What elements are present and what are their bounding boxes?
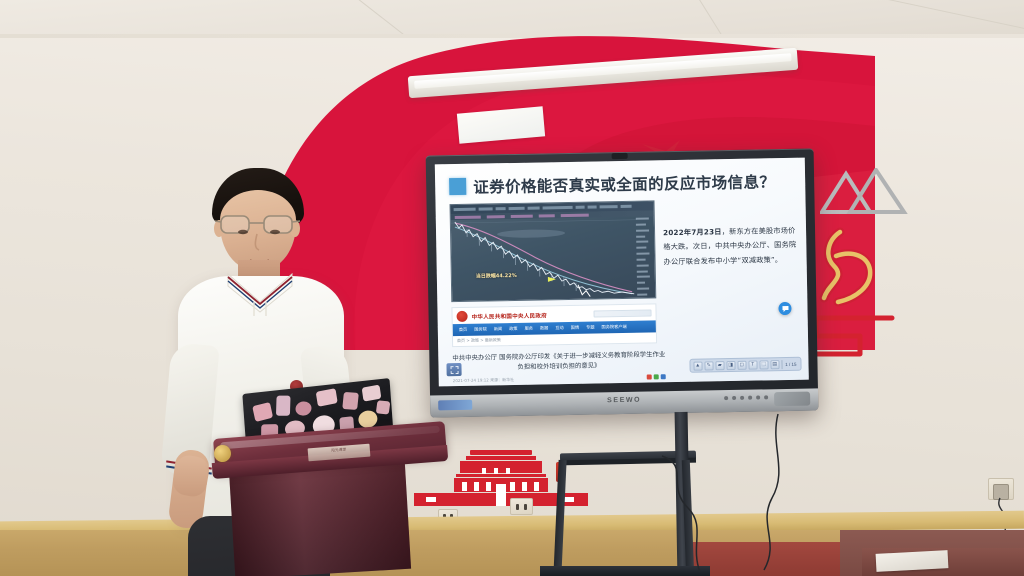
power-plug [993,484,1009,500]
tv-stand-base [540,566,710,576]
red-squiggle-decal [808,310,908,358]
presentation-slide[interactable]: 证券价格能否真实或全面的反应市场信息？ [435,158,809,387]
display-camera [612,153,628,159]
wall-ceiling-edge [0,34,1024,38]
gov-nav-item[interactable]: 国务院 [471,325,490,333]
interactive-smartboard[interactable]: 证券价格能否真实或全面的反应市场信息？ [426,148,819,417]
display-button[interactable] [740,396,744,400]
chat-bubble-icon[interactable] [778,302,791,315]
mountain-decal [820,168,910,214]
gov-nav-item[interactable]: 数据 [537,324,552,332]
share-wechat-icon[interactable] [654,375,659,380]
classroom-scene: LED [0,0,1024,576]
gov-nav-item[interactable]: 政策 [506,325,521,333]
highlighter-icon[interactable]: ▰ [715,361,724,370]
text-icon[interactable]: T [748,360,757,369]
gov-nav-item[interactable]: 新闻 [491,325,506,333]
page-icon[interactable]: ▤ [770,360,779,369]
sticker-12 [376,400,391,414]
lectern: 阳光课堂 [196,398,464,576]
gov-nav-item[interactable]: 互动 [552,324,567,332]
gov-site-title: 中华人民共和国中央人民政府 [472,311,548,320]
chinese-character-decal [812,222,884,314]
toolbar-divider [781,360,782,369]
display-button[interactable] [756,395,760,399]
gov-nav-item[interactable]: 国情 [568,324,583,332]
national-emblem-icon [456,311,467,322]
gov-nav-item[interactable]: 首页 [456,326,471,334]
display-control-buttons[interactable] [724,395,768,400]
sticker-4 [316,388,338,407]
lectern-body-shading [229,459,411,576]
gov-website-screenshot: 中华人民共和国中央人民政府 首页 国务院 新闻 政策 服务 数据 [451,303,657,347]
slide-right-column: 2022年7月23日，新东方在美股市场价格大跌。次日，中共中央办公厅、国务院办公… [662,198,798,380]
pen-icon[interactable]: ✎ [704,361,713,370]
display-sidelogo [774,392,810,407]
gov-nav-item[interactable]: 国务院客户端 [598,323,629,332]
document-meta: 2021-07-24 19:12 来源：新华社 [453,374,666,384]
lectern-plaque-text: 阳光课堂 [308,446,370,456]
stock-chart: 当日跌幅44.22% [450,200,657,302]
gov-nav-item[interactable]: 专题 [583,323,598,331]
sticker-2 [276,396,291,416]
chart-plot [451,215,656,302]
display-brand-logo: SEEWO [607,397,641,405]
eraser-icon[interactable]: ◨ [726,360,735,369]
share-weibo-icon[interactable] [647,375,652,380]
gov-nav-item[interactable]: 服务 [522,325,537,333]
display-bezel: 证券价格能否真实或全面的反应市场信息？ [426,148,819,417]
display-button[interactable] [732,396,736,400]
sticker-6 [362,385,382,402]
sticker-5 [342,392,359,410]
shirt-collar [224,272,296,316]
shapes-icon[interactable]: ◻ [737,360,746,369]
page-indicator: 1 / 15 [784,361,797,366]
chart-arrow-icon [514,276,556,283]
display-button[interactable] [724,396,728,400]
sticker-1 [252,402,273,422]
slide-paragraph: 2022年7月23日，新东方在美股市场价格大跌。次日，中共中央办公厅、国务院办公… [663,224,797,270]
fullscreen-toggle-button[interactable] [446,363,461,376]
share-icons[interactable] [647,374,666,379]
display-button[interactable] [764,395,768,399]
paragraph-date: 2022年7月23日 [663,227,722,237]
breadcrumb-text: 首页 > 政策 > 最新政策 [457,337,501,344]
chart-y-axis [636,217,653,295]
slide-title-row: 证券价格能否真实或全面的反应市场信息？ [449,170,795,198]
chart-annotation: 当日跌幅44.22% [476,272,517,280]
sticker-3 [295,401,312,417]
slide-left-column: 当日跌幅44.22% 中华人民共和国中央人民政府 [450,200,658,383]
document-meta-left: 2021-07-24 19:12 来源：新华社 [453,377,514,384]
slide-title: 证券价格能否真实或全面的反应市场信息？ [473,170,775,198]
slide-body: 当日跌幅44.22% 中华人民共和国中央人民政府 [446,198,799,384]
gov-search-box[interactable] [593,309,651,317]
title-accent-swatch [449,178,466,195]
desk-papers [876,550,949,572]
select-icon[interactable]: ⬚ [759,360,768,369]
document-headline: 中共中央办公厅 国务院办公厅印发《关于进一步减轻义务教育阶段学生作业负担和校外培… [452,349,665,374]
annotation-toolbar[interactable]: ▲ ✎ ▰ ◨ ◻ T ⬚ ▤ 1 / 15 [689,357,802,373]
display-screen[interactable]: 证券价格能否真实或全面的反应市场信息？ [435,158,809,387]
lamp-label: LED [736,57,750,64]
wall-outlet [510,498,533,515]
pointer-icon[interactable]: ▲ [693,361,702,370]
display-button[interactable] [748,396,752,400]
